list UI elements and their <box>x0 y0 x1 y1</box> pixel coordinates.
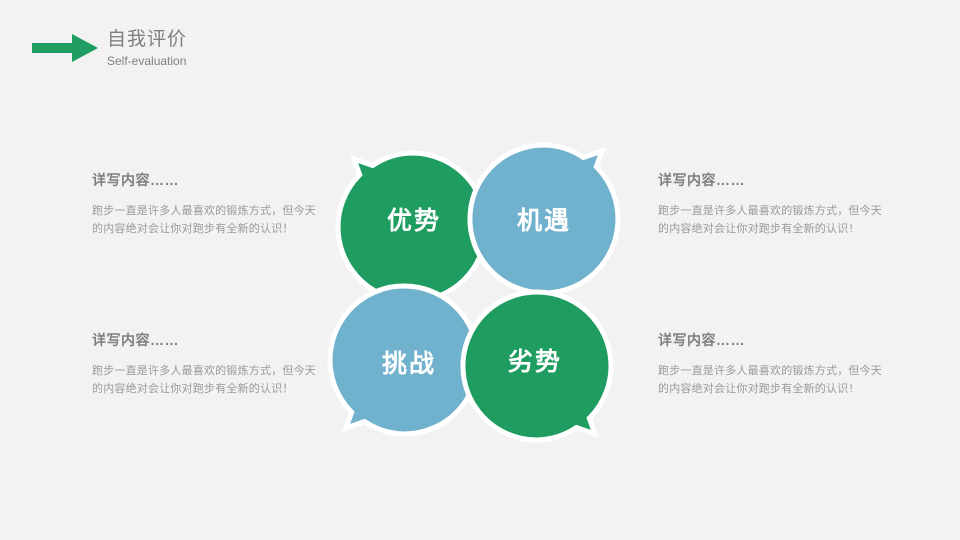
text-block-bottom-right: 详写内容…… 跑步一直是许多人最喜欢的锻炼方式，但今天的内容绝对会让你对跑步有全… <box>658 330 890 398</box>
text-block-body: 跑步一直是许多人最喜欢的锻炼方式，但今天的内容绝对会让你对跑步有全新的认识！ <box>658 202 890 238</box>
text-block-title: 详写内容…… <box>658 330 890 350</box>
swot-diagram: 优势 机遇 挑战 劣势 <box>330 145 640 445</box>
slide-header: 自我评价 Self-evaluation <box>0 0 960 92</box>
text-block-body: 跑步一直是许多人最喜欢的锻炼方式，但今天的内容绝对会让你对跑步有全新的认识！ <box>92 362 324 398</box>
arrow-right-icon <box>32 33 98 63</box>
text-block-bottom-left: 详写内容…… 跑步一直是许多人最喜欢的锻炼方式，但今天的内容绝对会让你对跑步有全… <box>92 330 324 398</box>
text-block-title: 详写内容…… <box>92 330 324 350</box>
page-title: 自我评价 <box>107 28 187 52</box>
text-block-body: 跑步一直是许多人最喜欢的锻炼方式，但今天的内容绝对会让你对跑步有全新的认识！ <box>92 202 324 238</box>
bubble-strengths[interactable]: 优势 <box>338 153 486 301</box>
bubble-weaknesses[interactable]: 劣势 <box>463 292 611 440</box>
bubble-challenges[interactable]: 挑战 <box>330 286 478 434</box>
bubble-opportunities[interactable]: 机遇 <box>470 145 618 293</box>
text-block-title: 详写内容…… <box>92 170 324 190</box>
text-block-top-right: 详写内容…… 跑步一直是许多人最喜欢的锻炼方式，但今天的内容绝对会让你对跑步有全… <box>658 170 890 238</box>
header-text-group: 自我评价 Self-evaluation <box>107 28 187 69</box>
text-block-top-left: 详写内容…… 跑步一直是许多人最喜欢的锻炼方式，但今天的内容绝对会让你对跑步有全… <box>92 170 324 238</box>
text-block-body: 跑步一直是许多人最喜欢的锻炼方式，但今天的内容绝对会让你对跑步有全新的认识！ <box>658 362 890 398</box>
page-subtitle: Self-evaluation <box>107 53 187 69</box>
text-block-title: 详写内容…… <box>658 170 890 190</box>
